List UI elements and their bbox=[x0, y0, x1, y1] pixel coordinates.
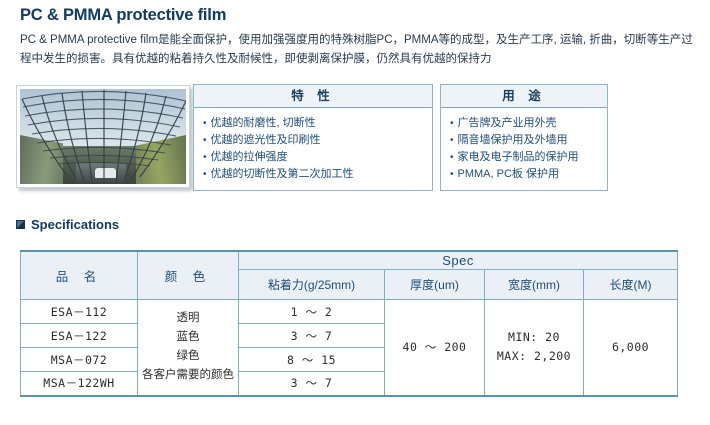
features-list: 优越的耐磨性, 切断性 优越的遮光性及印刷性 优越的拉伸强度 优越的切断性及第二… bbox=[194, 108, 432, 183]
cell-name: ESA－122 bbox=[21, 324, 138, 348]
cell-thickness-merged: 40 ～ 200 bbox=[385, 300, 485, 396]
color-option: 透明 bbox=[139, 309, 237, 328]
polycarbonate-roof-tunnel-photo bbox=[20, 89, 186, 184]
col-header-color: 颜 色 bbox=[138, 251, 239, 300]
width-min: MIN: 20 bbox=[486, 328, 582, 347]
specifications-title: Specifications bbox=[31, 217, 119, 232]
list-item: 广告牌及产业用外壳 bbox=[450, 115, 607, 132]
cell-adhesion: 3 ～ 7 bbox=[239, 372, 385, 396]
cell-length-merged: 6,000 bbox=[584, 300, 678, 396]
photo-roof-frame-icon bbox=[20, 89, 186, 184]
list-item: PMMA, PC板 保护用 bbox=[450, 166, 607, 183]
col-header-width: 宽度(mm) bbox=[485, 270, 584, 300]
col-header-adhesion: 粘着力(g/25mm) bbox=[239, 270, 385, 300]
uses-box-heading: 用 途 bbox=[441, 85, 607, 108]
list-item: 家电及电子制品的保护用 bbox=[450, 149, 607, 166]
col-header-name: 品 名 bbox=[21, 251, 138, 300]
color-option: 各客户需要的颜色 bbox=[139, 366, 237, 385]
col-header-length: 长度(M) bbox=[584, 270, 678, 300]
cell-adhesion: 3 ～ 7 bbox=[239, 324, 385, 348]
product-photo bbox=[16, 85, 190, 188]
specifications-table: 品 名 颜 色 Spec 粘着力(g/25mm) 厚度(um) 宽度(mm) 长… bbox=[20, 250, 678, 397]
list-item: 隔音墙保护用及外墙用 bbox=[450, 132, 607, 149]
cell-name: ESA－112 bbox=[21, 300, 138, 324]
table-row: ESA－112 透明 蓝色 绿色 各客户需要的颜色 1 ～ 2 40 ～ 200… bbox=[21, 300, 678, 324]
list-item: 优越的切断性及第二次加工性 bbox=[203, 166, 432, 183]
cell-color-merged: 透明 蓝色 绿色 各客户需要的颜色 bbox=[138, 300, 239, 396]
color-option: 绿色 bbox=[139, 347, 237, 366]
list-item: 优越的遮光性及印刷性 bbox=[203, 132, 432, 149]
cell-name: MSA－072 bbox=[21, 348, 138, 372]
product-datasheet-page: PC & PMMA protective film PC & PMMA prot… bbox=[0, 0, 710, 425]
cell-adhesion: 1 ～ 2 bbox=[239, 300, 385, 324]
cell-adhesion: 8 ～ 15 bbox=[239, 348, 385, 372]
color-option: 蓝色 bbox=[139, 328, 237, 347]
table-head: 品 名 颜 色 Spec 粘着力(g/25mm) 厚度(um) 宽度(mm) 长… bbox=[21, 251, 678, 300]
width-max: MAX: 2,200 bbox=[486, 347, 582, 366]
col-group-header-spec: Spec bbox=[239, 251, 678, 270]
uses-list: 广告牌及产业用外壳 隔音墙保护用及外墙用 家电及电子制品的保护用 PMMA, P… bbox=[441, 108, 607, 183]
features-box: 特 性 优越的耐磨性, 切断性 优越的遮光性及印刷性 优越的拉伸强度 优越的切断… bbox=[193, 84, 433, 191]
list-item: 优越的拉伸强度 bbox=[203, 149, 432, 166]
uses-box: 用 途 广告牌及产业用外壳 隔音墙保护用及外墙用 家电及电子制品的保护用 PMM… bbox=[440, 84, 608, 191]
cell-width-merged: MIN: 20 MAX: 2,200 bbox=[485, 300, 584, 396]
specifications-heading: Specifications bbox=[16, 217, 119, 232]
list-item: 优越的耐磨性, 切断性 bbox=[203, 115, 432, 132]
table-body: ESA－112 透明 蓝色 绿色 各客户需要的颜色 1 ～ 2 40 ～ 200… bbox=[21, 300, 678, 396]
cell-name: MSA－122WH bbox=[21, 372, 138, 396]
page-title: PC & PMMA protective film bbox=[20, 6, 226, 25]
features-box-heading: 特 性 bbox=[194, 85, 432, 108]
col-header-thickness: 厚度(um) bbox=[385, 270, 485, 300]
product-description: PC & PMMA protective film是能全面保护，使用加强强度用的… bbox=[20, 31, 696, 69]
square-bullet-icon bbox=[16, 220, 25, 229]
table-header-row-1: 品 名 颜 色 Spec bbox=[21, 251, 678, 270]
